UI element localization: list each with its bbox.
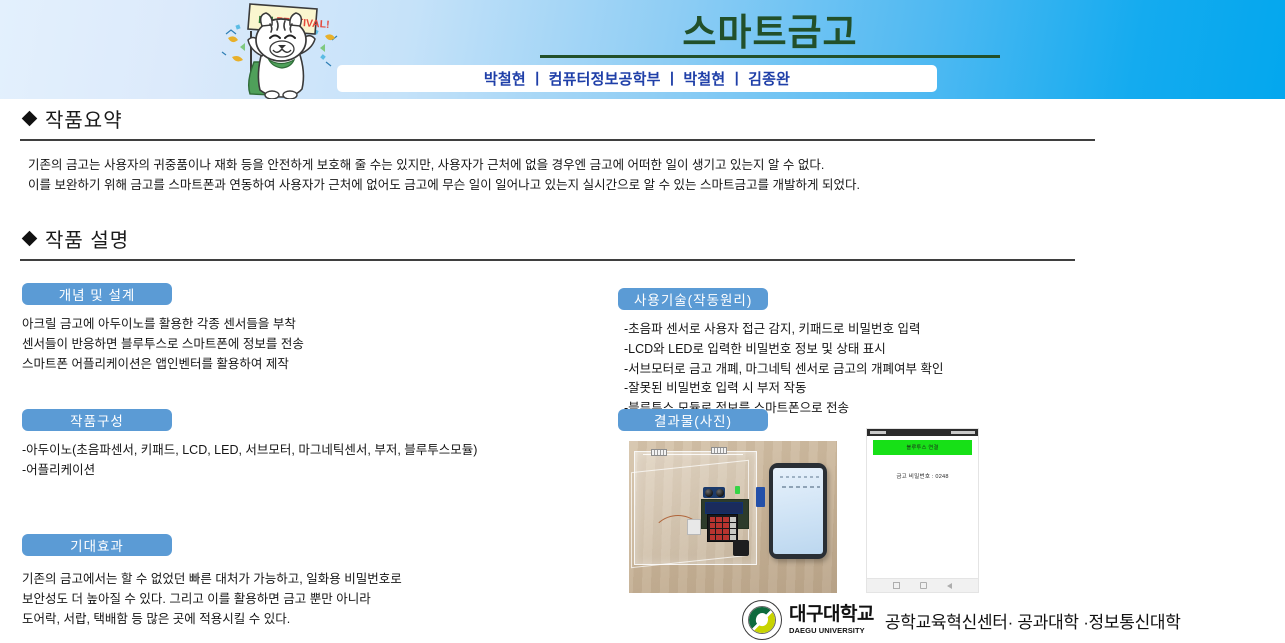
ultrasonic-sensor	[703, 487, 725, 498]
concept-text: 아크릴 금고에 아두이노를 활용한 각종 센서들을 부착 센서들이 반응하면 블…	[22, 315, 582, 374]
authors-text: 박철현 ㅣ 컴퓨터정보공학부 ㅣ 박철현 ㅣ 김종완	[484, 68, 790, 89]
result-label: 결과물(사진)	[618, 409, 768, 431]
diamond-bullet-icon	[22, 111, 38, 127]
box-hinge-icon	[711, 447, 727, 454]
safe-password-text: 금고 비밀번호 : 0248	[867, 472, 978, 480]
footer-departments: 공학교육혁신센터· 공과대학 ·정보통신대학	[885, 608, 1181, 633]
poster-title: 스마트금고	[540, 12, 1000, 58]
bluetooth-connect-button[interactable]: 블루투스 연결	[873, 440, 972, 455]
result-block: 결과물(사진)	[618, 409, 1088, 431]
concept-label: 개념 및 설계	[22, 283, 172, 305]
effect-text: 기존의 금고에서는 할 수 없었던 빠른 대처가 가능하고, 일화용 비밀번호로…	[22, 570, 582, 629]
lcd-display	[705, 502, 743, 514]
led-indicator	[735, 486, 740, 494]
concept-block: 개념 및 설계 아크릴 금고에 아두이노를 활용한 각종 센서들을 부착 센서들…	[22, 283, 582, 374]
summary-divider	[20, 139, 1095, 141]
mascot-tiger-icon: DU FESTIVAL!	[214, 0, 346, 99]
composition-text: -아두이노(초음파센서, 키패드, LCD, LED, 서브모터, 마그네틱센서…	[22, 441, 602, 481]
home-icon[interactable]	[920, 582, 927, 589]
back-icon[interactable]	[947, 583, 952, 589]
android-nav-bar[interactable]	[867, 578, 978, 592]
android-status-bar	[867, 429, 978, 436]
status-icons-right	[951, 431, 975, 434]
servo-motor	[687, 519, 701, 535]
footer: 대구대학교 DAEGU UNIVERSITY 공학교육혁신센터· 공과대학 ·정…	[742, 600, 1181, 640]
description-section: 작품 설명	[0, 224, 1080, 261]
effect-label: 기대효과	[22, 534, 172, 556]
university-name-block: 대구대학교 DAEGU UNIVERSITY	[789, 605, 874, 635]
summary-heading-label: 작품요약	[45, 104, 123, 133]
bluetooth-module	[756, 487, 765, 507]
summary-section: 작품요약 기존의 금고는 사용자의 귀중품이나 재화 등을 안전하게 보호해 줄…	[0, 104, 1080, 196]
app-screenshot: 블루투스 연결 금고 비밀번호 : 0248	[866, 428, 979, 593]
description-heading: 작품 설명	[0, 224, 1080, 253]
tablet-device	[769, 463, 827, 559]
technology-label: 사용기술(작동원리)	[618, 288, 768, 310]
logo-emblem	[748, 606, 776, 634]
tablet-screen	[773, 468, 823, 554]
daegu-university-logo-icon	[742, 600, 782, 640]
university-name-english: DAEGU UNIVERSITY	[789, 626, 874, 635]
diamond-bullet-icon	[22, 231, 38, 247]
composition-label: 작품구성	[22, 409, 172, 431]
description-heading-label: 작품 설명	[45, 224, 129, 253]
technology-text: -초음파 센서로 사용자 접근 감지, 키패드로 비밀번호 입력 -LCD와 L…	[624, 320, 1088, 419]
summary-heading: 작품요약	[0, 104, 1080, 133]
keypad	[707, 514, 738, 542]
recents-icon[interactable]	[893, 582, 900, 589]
university-name-korean: 대구대학교	[789, 605, 874, 624]
technology-block: 사용기술(작동원리) -초음파 센서로 사용자 접근 감지, 키패드로 비밀번호…	[618, 288, 1088, 419]
composition-block: 작품구성 -아두이노(초음파센서, 키패드, LCD, LED, 서브모터, 마…	[22, 409, 602, 481]
status-icons-left	[870, 431, 886, 434]
effect-block: 기대효과 기존의 금고에서는 할 수 없었던 빠른 대처가 가능하고, 일화용 …	[22, 534, 582, 629]
wire-bundle	[733, 540, 749, 556]
summary-text: 기존의 금고는 사용자의 귀중품이나 재화 등을 안전하게 보호해 줄 수는 있…	[28, 155, 1068, 196]
product-photo	[629, 441, 837, 593]
box-hinge-icon	[651, 449, 667, 456]
poster-header: DU FESTIVAL!	[0, 0, 1285, 99]
authors-bar: 박철현 ㅣ 컴퓨터정보공학부 ㅣ 박철현 ㅣ 김종완	[337, 65, 937, 92]
description-divider	[20, 259, 1075, 261]
